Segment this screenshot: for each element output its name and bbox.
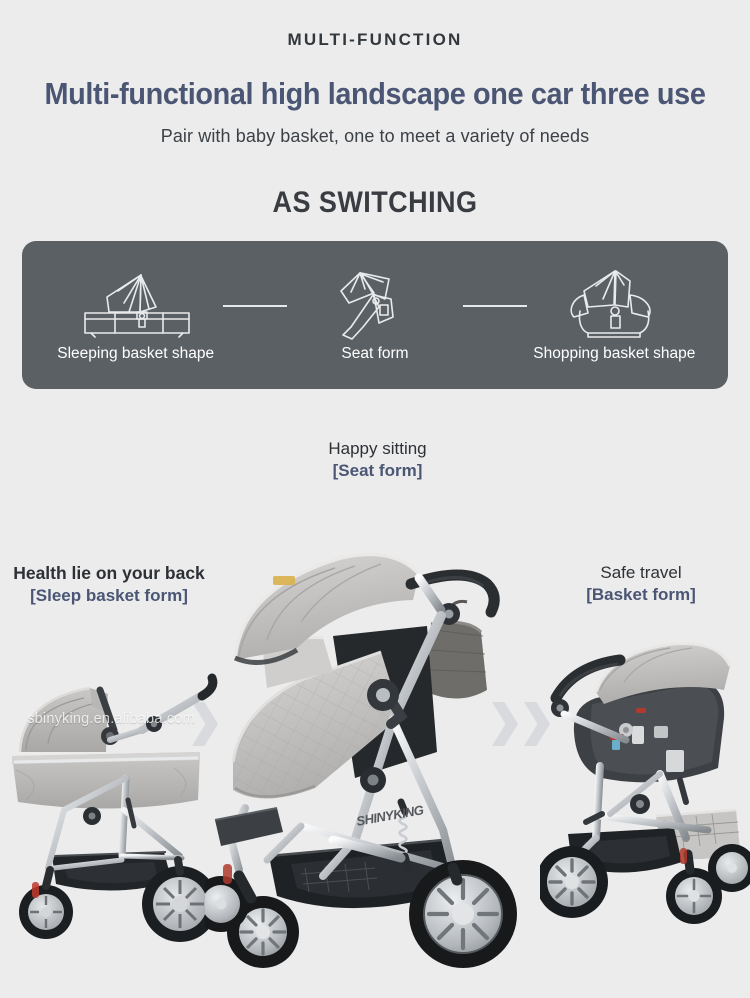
switch-item-shopping-basket[interactable]: Shopping basket shape: [527, 267, 702, 363]
switch-separator: [223, 305, 287, 307]
eyebrow-label: MULTI-FUNCTION: [0, 30, 750, 50]
switch-item-seat-form[interactable]: Seat form: [287, 267, 462, 363]
product-infographic: MULTI-FUNCTION Multi-functional high lan…: [0, 0, 750, 998]
switch-separator: [463, 305, 527, 307]
seat-form-icon: [327, 267, 423, 339]
page-subtitle: Pair with baby basket, one to meet a var…: [0, 126, 750, 147]
product-image-basket-form: [540, 638, 750, 938]
product-stage: [0, 470, 750, 998]
switching-panel: Sleeping basket shape: [22, 241, 728, 389]
switch-item-label: Seat form: [341, 345, 408, 363]
product-image-sleep-basket: [4, 660, 219, 950]
switch-item-label: Sleeping basket shape: [57, 345, 214, 363]
product-image-seat-form: [205, 540, 545, 990]
switch-item-label: Shopping basket shape: [533, 345, 695, 363]
section-title-as-switching: AS SWITCHING: [38, 186, 713, 220]
page-title: Multi-functional high landscape one car …: [26, 76, 724, 112]
switch-item-sleeping-basket[interactable]: Sleeping basket shape: [48, 267, 223, 363]
caption-main: Happy sitting: [275, 438, 480, 460]
switching-panel-row: Sleeping basket shape: [22, 241, 728, 389]
sleeping-basket-icon: [77, 267, 195, 339]
shopping-basket-icon: [558, 267, 670, 339]
